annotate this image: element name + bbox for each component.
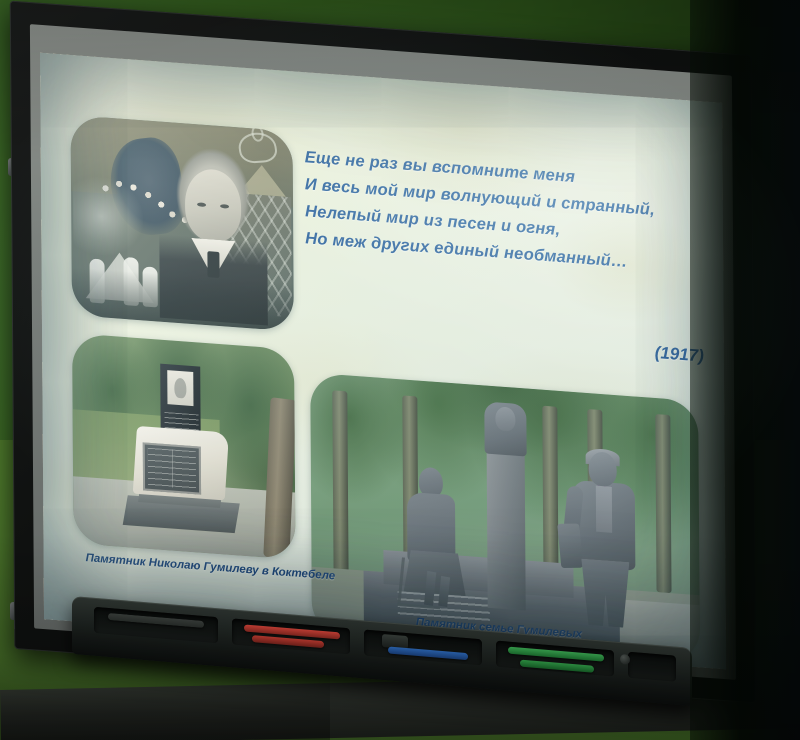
- poem-text-block: Еще не раз вы вспомните меня И весь мой …: [305, 144, 704, 281]
- smart-board-assembly[interactable]: SMART Board: [8, 10, 768, 710]
- tree-trunk: [332, 390, 348, 590]
- koktebel-monument-photo[interactable]: [72, 333, 295, 559]
- presentation-slide[interactable]: Еще не раз вы вспомните меня И весь мой …: [40, 53, 726, 669]
- caption-koktebel-monument: Памятник Николаю Гумилеву в Коктебеле: [86, 552, 336, 582]
- gumilev-bust-statue: [484, 401, 526, 456]
- lev-gumilev-standing-statue: [561, 449, 648, 631]
- classroom-scene: SMART Board: [0, 0, 800, 740]
- akhmatova-seated-statue: [399, 465, 474, 611]
- tree-trunk: [655, 414, 671, 593]
- pen-slot[interactable]: [628, 652, 676, 682]
- help-button-icon[interactable]: [620, 654, 630, 665]
- bust-column: [487, 448, 526, 611]
- gumilev-family-monument-photo[interactable]: [310, 373, 700, 664]
- wall-shadow-right: [690, 0, 800, 740]
- board-frame: SMART Board: [10, 1, 757, 704]
- portrait-face: [185, 167, 242, 243]
- projection-screen[interactable]: Еще не раз вы вспомните меня И весь мой …: [40, 53, 726, 669]
- board-bezel: Еще не раз вы вспомните меня И весь мой …: [30, 24, 736, 680]
- poem-year: (1917): [306, 317, 704, 366]
- portrait-tie: [207, 251, 219, 278]
- gumilev-portrait-collage[interactable]: [71, 115, 294, 331]
- portrait-plaque: [167, 370, 193, 406]
- book-pages-inscription: [143, 442, 201, 494]
